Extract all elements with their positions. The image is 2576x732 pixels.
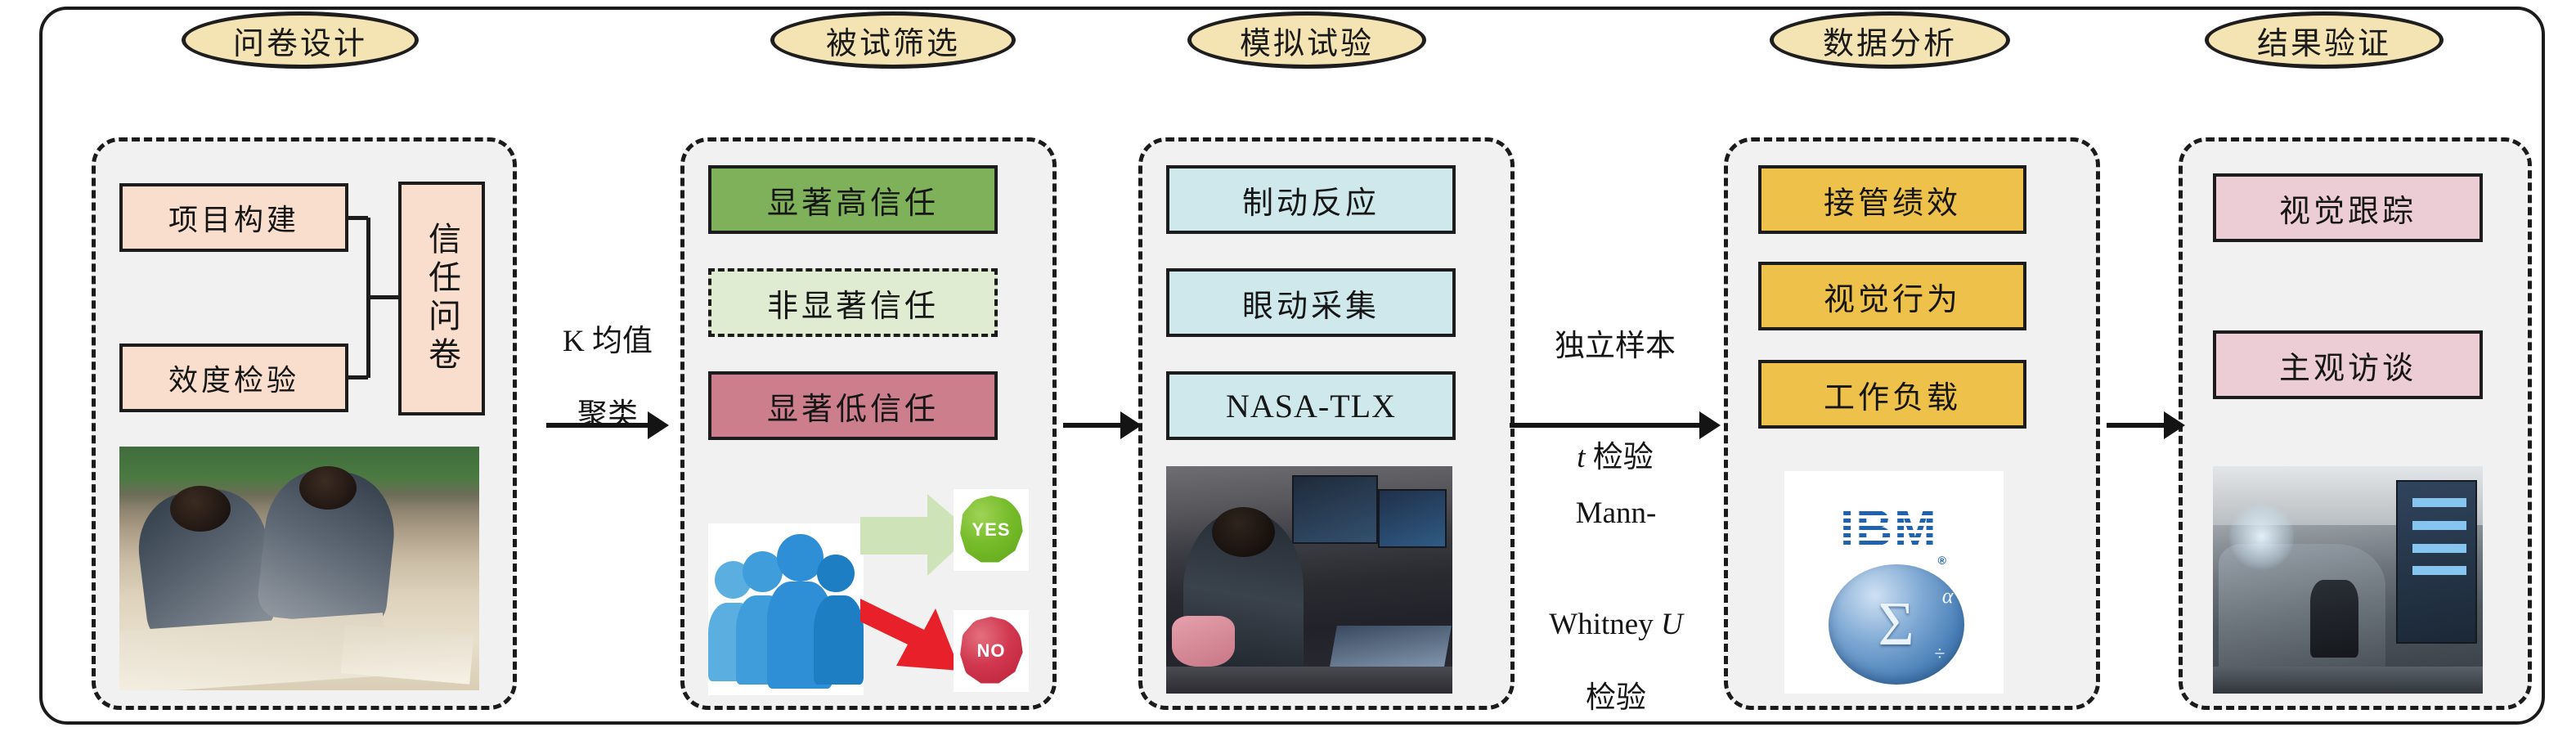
item-label: 眼动采集 bbox=[1242, 281, 1380, 326]
ibm-wordmark: IBM ® bbox=[1793, 484, 1995, 573]
arrow-label-mann-whitney: Mann- Whitney U 检验 bbox=[1515, 458, 1717, 732]
item-label: 主观访谈 bbox=[2279, 343, 2417, 388]
item-box-validity-test[interactable]: 效度检验 bbox=[119, 344, 348, 412]
arrow-label-line-1: Mann- bbox=[1515, 495, 1717, 532]
connector-horizontal-bottom bbox=[348, 375, 368, 379]
stage-title-label: 模拟试验 bbox=[1240, 18, 1374, 63]
arrow-shaft bbox=[1063, 423, 1120, 428]
item-label: 显著高信任 bbox=[767, 177, 939, 222]
item-label: 显著低信任 bbox=[767, 384, 939, 429]
alpha-glyph-icon: α bbox=[1942, 584, 1954, 609]
stage-arrow-2 bbox=[1063, 409, 1142, 442]
stage-title-simulation-experiment: 模拟试验 bbox=[1187, 11, 1426, 69]
item-label: 非显著信任 bbox=[767, 281, 939, 326]
item-label: 信任问卷 bbox=[425, 222, 458, 375]
arrow-shaft bbox=[2107, 423, 2164, 428]
stage-title-label: 问卷设计 bbox=[233, 18, 367, 63]
ibm-spss-logo: IBM ® Σ α ÷ bbox=[1784, 471, 2004, 694]
arrow-label-line-2: Whitney U bbox=[1515, 568, 1717, 642]
item-box-non-significant-trust[interactable]: 非显著信任 bbox=[708, 268, 998, 337]
item-box-workload[interactable]: 工作负载 bbox=[1758, 360, 2026, 429]
item-label: NASA-TLX bbox=[1226, 387, 1396, 425]
stage-title-data-analysis: 数据分析 bbox=[1770, 11, 2010, 69]
item-box-takeover-performance[interactable]: 接管绩效 bbox=[1758, 165, 2026, 234]
students-filling-questionnaire-photo bbox=[119, 447, 479, 690]
stage-title-label: 数据分析 bbox=[1823, 18, 1957, 63]
arrow-label-line-3: 检验 bbox=[1515, 680, 1717, 716]
arrow-head-icon bbox=[2164, 411, 2185, 439]
yes-sticker-label: YES bbox=[959, 496, 1022, 564]
item-box-trust-questionnaire[interactable]: 信任问卷 bbox=[398, 182, 485, 415]
no-sticker: NO bbox=[954, 610, 1029, 692]
item-box-braking-response[interactable]: 制动反应 bbox=[1166, 165, 1456, 234]
stage-title-questionnaire-design: 问卷设计 bbox=[182, 11, 419, 69]
train-cab-control-room-photo bbox=[2213, 466, 2483, 694]
arrow-head-icon bbox=[1120, 411, 1142, 439]
item-label: 项目构建 bbox=[168, 196, 299, 239]
item-label: 接管绩效 bbox=[1824, 177, 1961, 222]
divide-glyph-icon: ÷ bbox=[1934, 644, 1945, 666]
stage-arrow-4 bbox=[2107, 409, 2185, 442]
stage-title-result-verification: 结果验证 bbox=[2205, 11, 2444, 69]
yes-sticker: YES bbox=[954, 489, 1029, 571]
connector-horizontal-middle bbox=[366, 295, 399, 299]
item-box-nasa-tlx[interactable]: NASA-TLX bbox=[1166, 371, 1456, 440]
spss-sphere-icon: Σ α ÷ bbox=[1829, 564, 1964, 685]
item-box-eye-tracking-collection[interactable]: 眼动采集 bbox=[1166, 268, 1456, 337]
item-label: 视觉跟踪 bbox=[2279, 186, 2417, 231]
stage-title-label: 结果验证 bbox=[2257, 18, 2391, 63]
arrow-label-line-2: 聚类 bbox=[530, 397, 685, 433]
item-box-visual-tracking[interactable]: 视觉跟踪 bbox=[2213, 173, 2483, 242]
item-box-low-trust[interactable]: 显著低信任 bbox=[708, 371, 998, 440]
connector-horizontal-top bbox=[348, 216, 368, 220]
arrow-label-italic-u: U bbox=[1661, 608, 1683, 641]
arrow-label-line-1: 独立样本 bbox=[1519, 328, 1711, 365]
item-label: 制动反应 bbox=[1242, 177, 1380, 222]
item-label: 视觉行为 bbox=[1824, 274, 1961, 319]
stage-title-label: 被试筛选 bbox=[826, 18, 960, 63]
ibm-text-label: IBM bbox=[1840, 504, 1938, 555]
stage-title-participant-screening: 被试筛选 bbox=[770, 11, 1016, 69]
sigma-glyph-icon: Σ bbox=[1878, 596, 1914, 652]
registered-trademark-icon: ® bbox=[1938, 554, 1948, 567]
arrow-label-whitney: Whitney bbox=[1549, 608, 1661, 641]
arrow-label-kmeans: K 均值 聚类 bbox=[530, 286, 685, 471]
arrow-label-line-1: K 均值 bbox=[530, 323, 685, 360]
flowchart-diagram: 问卷设计 项目构建 效度检验 信任问卷 K 均值 聚类 被试筛选 显著高信任 非… bbox=[0, 0, 2576, 732]
item-box-visual-behaviour[interactable]: 视觉行为 bbox=[1758, 262, 2026, 330]
item-box-project-construction[interactable]: 项目构建 bbox=[119, 183, 348, 252]
no-sticker-label: NO bbox=[959, 617, 1022, 685]
item-label: 效度检验 bbox=[168, 357, 299, 399]
item-box-subjective-interview[interactable]: 主观访谈 bbox=[2213, 330, 2483, 399]
driving-simulator-experiment-photo bbox=[1166, 466, 1452, 694]
people-group-icon bbox=[708, 523, 864, 695]
item-label: 工作负载 bbox=[1824, 372, 1961, 417]
item-box-high-trust[interactable]: 显著高信任 bbox=[708, 165, 998, 234]
